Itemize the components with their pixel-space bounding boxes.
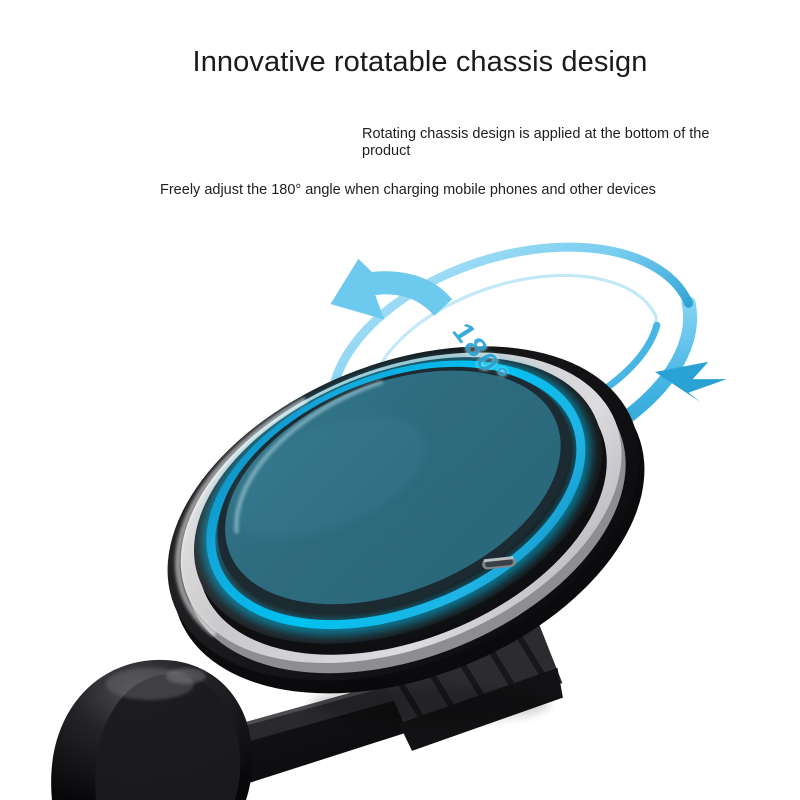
charging-disc [118,282,694,758]
silver-ring [135,292,667,723]
base-dome [51,660,252,800]
rotation-arrow-right [655,344,731,415]
rotation-indicator-graphic [0,0,800,800]
top-face-rim-highlight [204,381,414,533]
base-dome-highlight-small [166,668,206,684]
mount-stand [51,660,508,800]
rotation-angle-label: 180° [445,318,515,390]
hinge-fins [383,622,568,752]
dark-body-band [152,302,645,700]
rotation-arc-front [329,291,721,518]
support-arm [120,664,508,800]
page-title: Innovative rotatable chassis design [0,46,800,79]
outer-black-edge-body [123,295,693,758]
silver-ring-body [139,303,671,734]
glow-ring [173,315,620,675]
rotation-arc-inner [350,242,676,471]
outer-black-edge [118,282,688,745]
charging-pad-top-face [191,325,595,650]
base-dome-highlight [106,668,194,700]
dark-body-band-body [156,313,649,711]
product-illustration [0,0,800,800]
disc-contact-shadow [310,686,550,722]
feature-description: Rotating chassis design is applied at th… [362,126,744,160]
top-face-sheen [213,392,443,563]
usb-c-port [482,556,517,570]
support-arm-highlight [152,660,482,764]
rotation-arc-inner-front [408,325,674,458]
rotation-ellipse-group [293,191,731,527]
rotation-arrow-left [330,255,457,332]
rotation-arc-back [311,204,688,415]
inner-bezel [181,319,606,662]
glow-ring-halo [171,315,622,679]
silver-ring-highlight [133,400,374,640]
product-feature-banner: Innovative rotatable chassis design Rota… [0,0,800,800]
base-dome-cap [95,674,240,800]
feature-tagline: Freely adjust the 180° angle when chargi… [160,182,760,198]
